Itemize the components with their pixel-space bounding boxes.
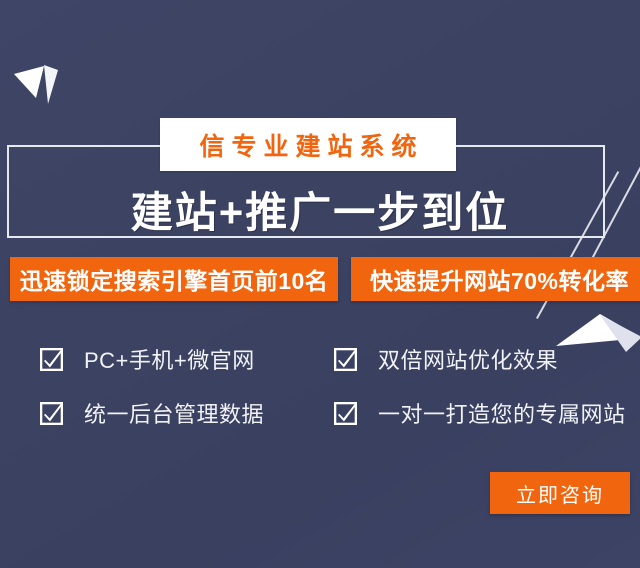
- consult-now-button[interactable]: 立即咨询: [490, 472, 630, 514]
- checkbox-checked-icon: [40, 348, 63, 371]
- feature-row: 统一后台管理数据 一对一打造您的专属网站: [40, 386, 640, 440]
- feature-item-one-on-one: 一对一打造您的专属网站: [334, 397, 634, 429]
- feature-label: 一对一打造您的专属网站: [378, 397, 626, 429]
- feature-row: PC+手机+微官网 双倍网站优化效果: [40, 332, 640, 386]
- feature-label: PC+手机+微官网: [84, 343, 255, 375]
- badge-label: 快速提升网站70%转化率: [370, 262, 629, 296]
- checkbox-checked-icon: [334, 348, 357, 371]
- page-title: 建站+推广一步到位: [131, 179, 510, 240]
- highlight-badge-conversion: 快速提升网站70%转化率: [351, 257, 640, 301]
- eyebrow-plaque: 信专业建站系统: [160, 118, 456, 171]
- feature-list: PC+手机+微官网 双倍网站优化效果 统一后台管理数据: [40, 332, 640, 440]
- badge-label: 迅速锁定搜索引擎首页前10名: [20, 262, 329, 296]
- promo-banner: 信专业建站系统 建站+推广一步到位 迅速锁定搜索引擎首页前10名 快速提升网站7…: [0, 0, 640, 568]
- feature-item-double-optimization: 双倍网站优化效果: [334, 343, 634, 375]
- feature-item-multi-platform: PC+手机+微官网: [40, 343, 334, 375]
- highlight-badge-seo: 迅速锁定搜索引擎首页前10名: [10, 257, 338, 301]
- checkbox-checked-icon: [334, 402, 357, 425]
- checkbox-checked-icon: [40, 402, 63, 425]
- feature-label: 统一后台管理数据: [84, 397, 264, 429]
- eyebrow-text: 信专业建站系统: [192, 127, 423, 163]
- feature-item-unified-backend: 统一后台管理数据: [40, 397, 334, 429]
- feature-label: 双倍网站优化效果: [378, 343, 558, 375]
- consult-now-label: 立即咨询: [516, 479, 604, 508]
- paper-plane-icon: [14, 62, 66, 106]
- headline-row: 建站+推广一步到位: [0, 178, 640, 240]
